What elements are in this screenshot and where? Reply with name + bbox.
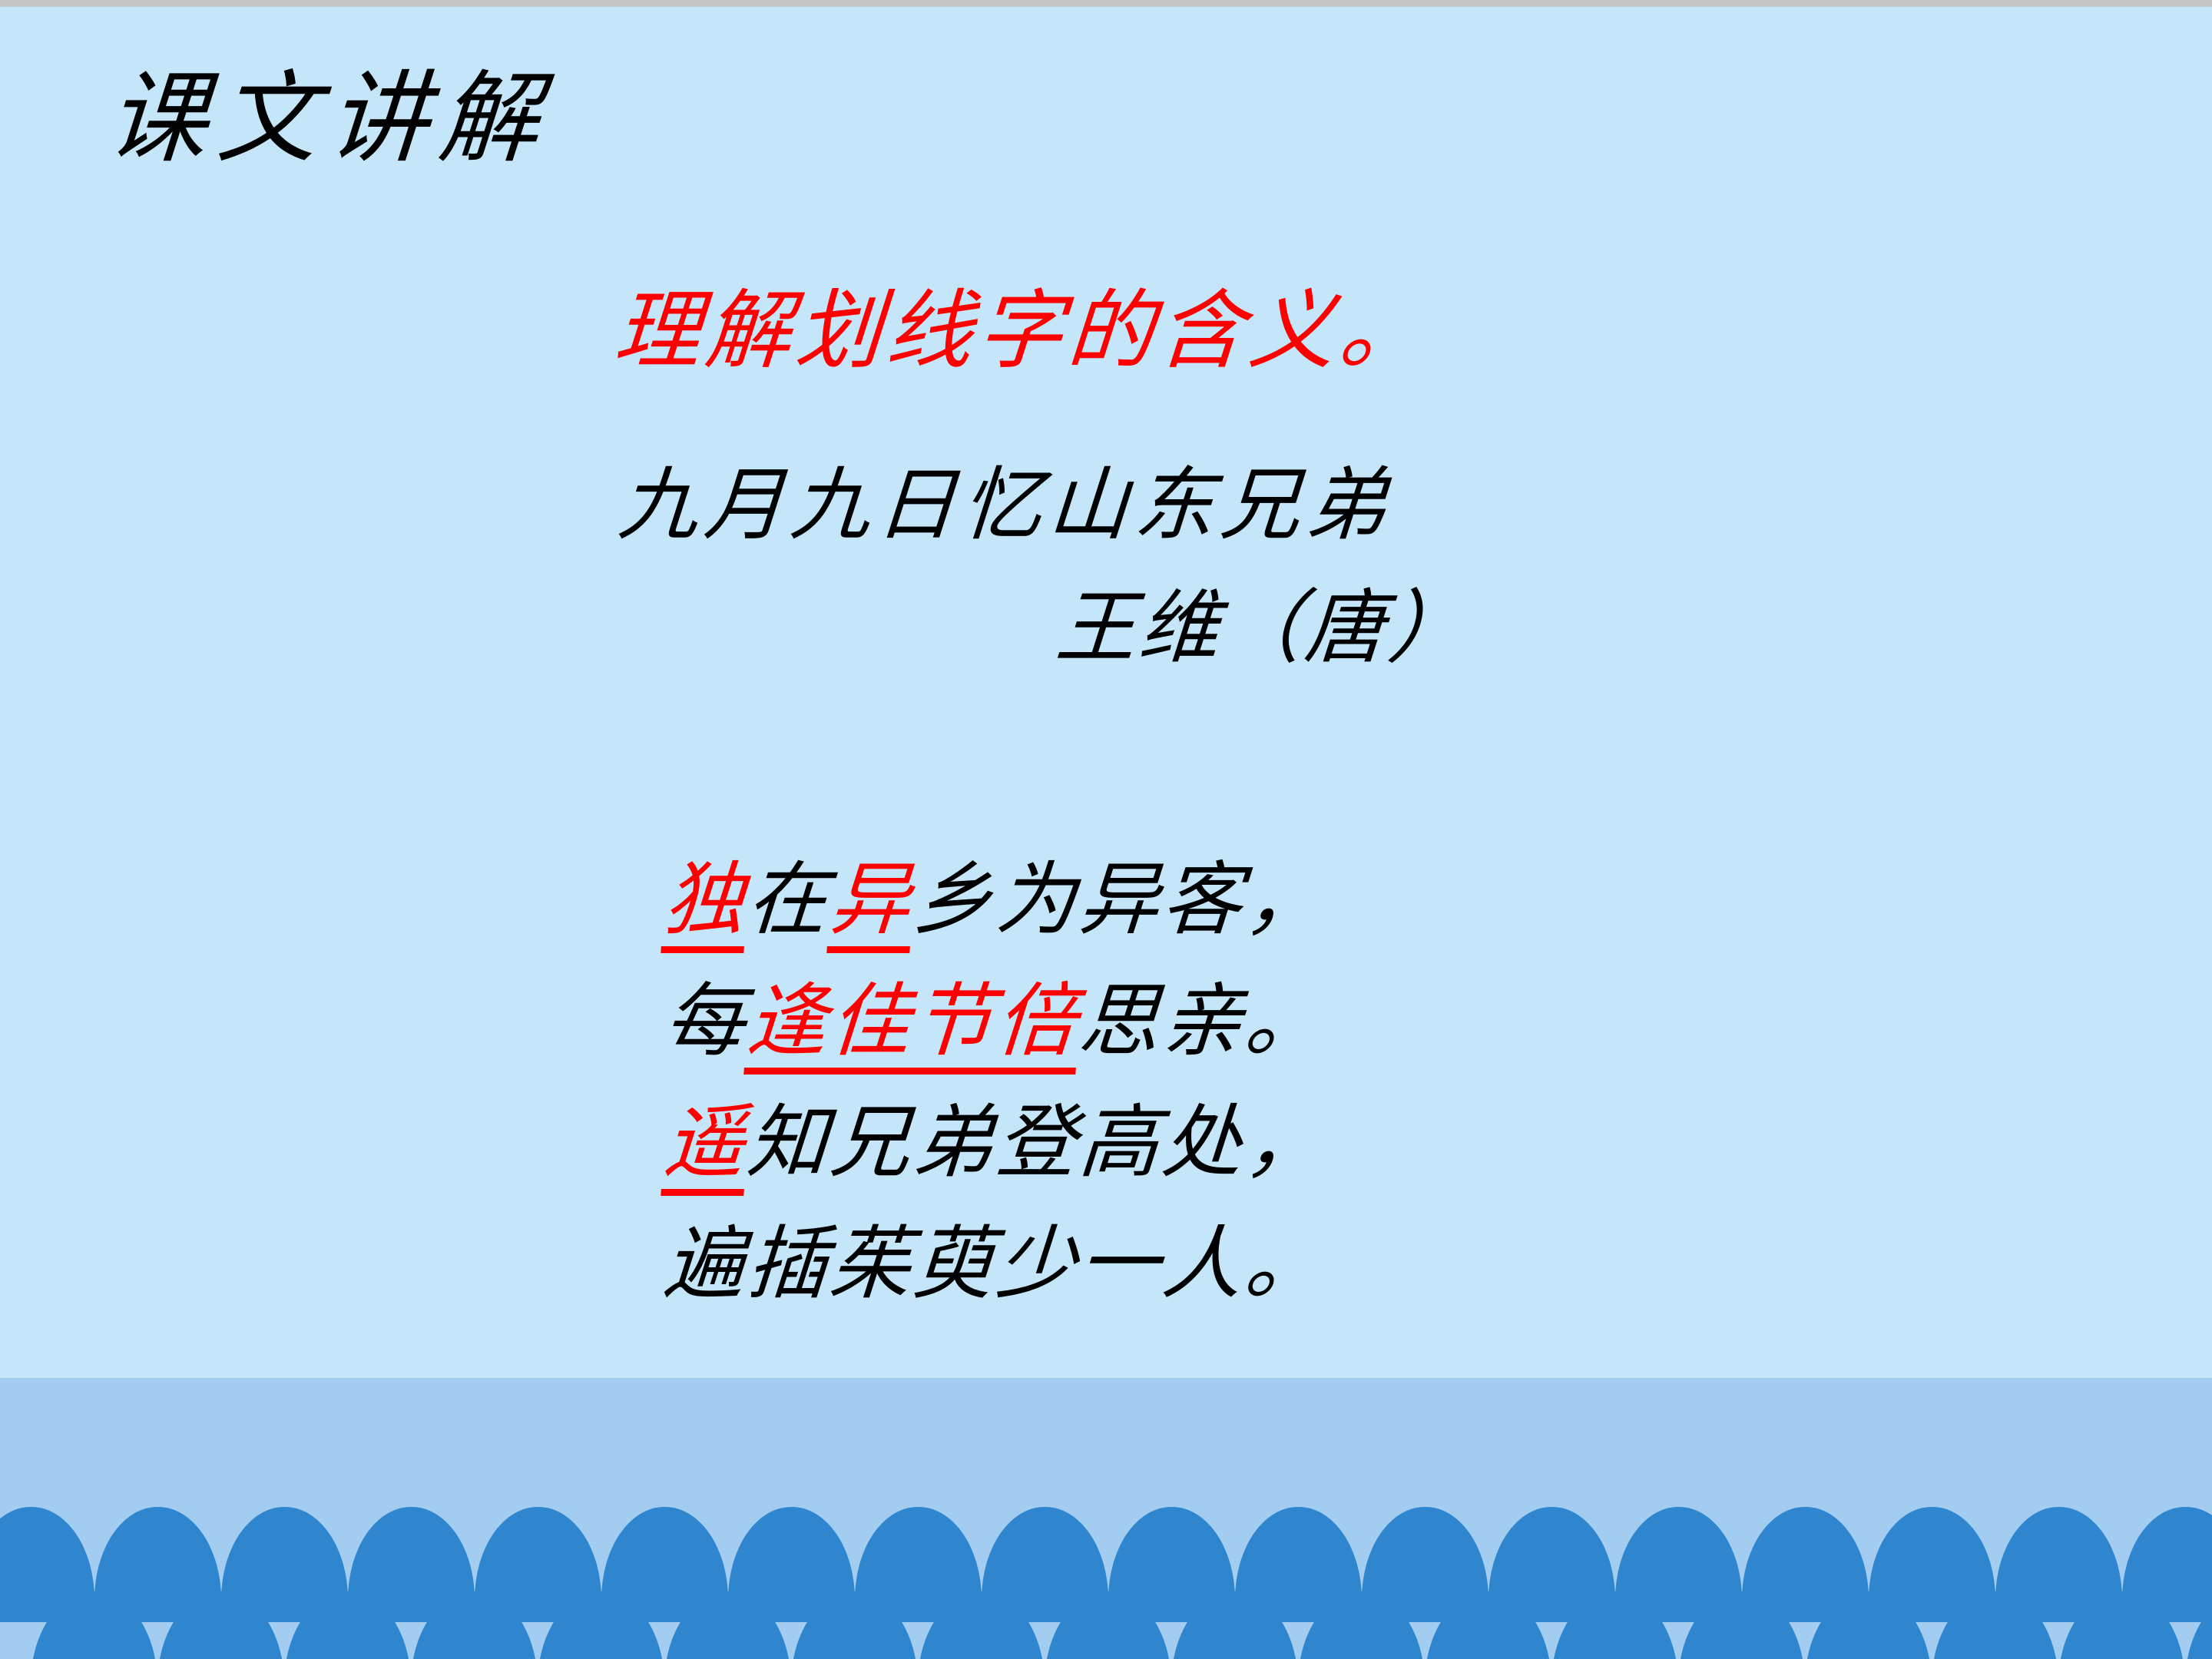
scallop-shape: [1425, 1591, 1551, 1659]
instruction-text: 理解划线字的含义。: [611, 287, 1433, 378]
poem-text: 遍插茱萸少一人。: [661, 1220, 1331, 1309]
poem-line: 独在异乡为异客，: [660, 840, 1332, 962]
scallop-row-lower: [31, 1591, 2212, 1659]
scallop-shape: [1298, 1591, 1425, 1659]
scallop-shape: [1551, 1591, 1678, 1659]
poem-text: 在: [744, 856, 833, 945]
scallop-shape: [791, 1591, 918, 1659]
poem-line: 遥知兄弟登高处，: [660, 1083, 1332, 1204]
scallop-shape: [1045, 1591, 1171, 1659]
poem-text: 乡为异客，: [910, 856, 1331, 945]
page-title: 课文讲解: [104, 70, 802, 170]
poem-title: 九月九日忆山东兄弟: [615, 464, 1396, 548]
highlighted-character: 遥: [661, 1099, 750, 1196]
scallop-shape: [1171, 1591, 1298, 1659]
slide-canvas: 课文讲解 理解划线字的含义。 九月九日忆山东兄弟 王维（唐） 独在异乡为异客，每…: [0, 0, 2212, 1659]
highlighted-character: 独: [661, 856, 750, 953]
scallop-shape: [284, 1591, 411, 1659]
poem-text: 思亲。: [1076, 978, 1331, 1066]
scallop-shape: [31, 1591, 157, 1659]
poem-text: 每: [661, 978, 750, 1066]
poem-text: 知兄弟登高处，: [744, 1099, 1331, 1187]
poem-author: 王维（唐）: [1053, 587, 1474, 671]
scallop-shape: [411, 1591, 538, 1659]
scallop-shape: [1932, 1591, 2058, 1659]
slide-title-block: 课文讲解: [104, 70, 795, 208]
scallop-shape: [538, 1591, 664, 1659]
poem-line: 每逢佳节倍思亲。: [660, 962, 1332, 1083]
scallop-shape: [2058, 1591, 2185, 1659]
scallop-shape: [1678, 1591, 1805, 1659]
scallop-shape: [2185, 1591, 2212, 1659]
scallop-shape: [1805, 1591, 1932, 1659]
poem-line: 遍插茱萸少一人。: [660, 1204, 1332, 1326]
scallop-shape: [918, 1591, 1045, 1659]
scallop-shape: [157, 1591, 284, 1659]
highlighted-character: 异: [826, 856, 916, 953]
scallop-shape: [664, 1591, 791, 1659]
poem-verse-block: 独在异乡为异客，每逢佳节倍思亲。遥知兄弟登高处，遍插茱萸少一人。: [664, 840, 1328, 1326]
decorative-bottom-band: [0, 1378, 2212, 1659]
highlighted-character: 逢佳节倍: [743, 978, 1082, 1075]
